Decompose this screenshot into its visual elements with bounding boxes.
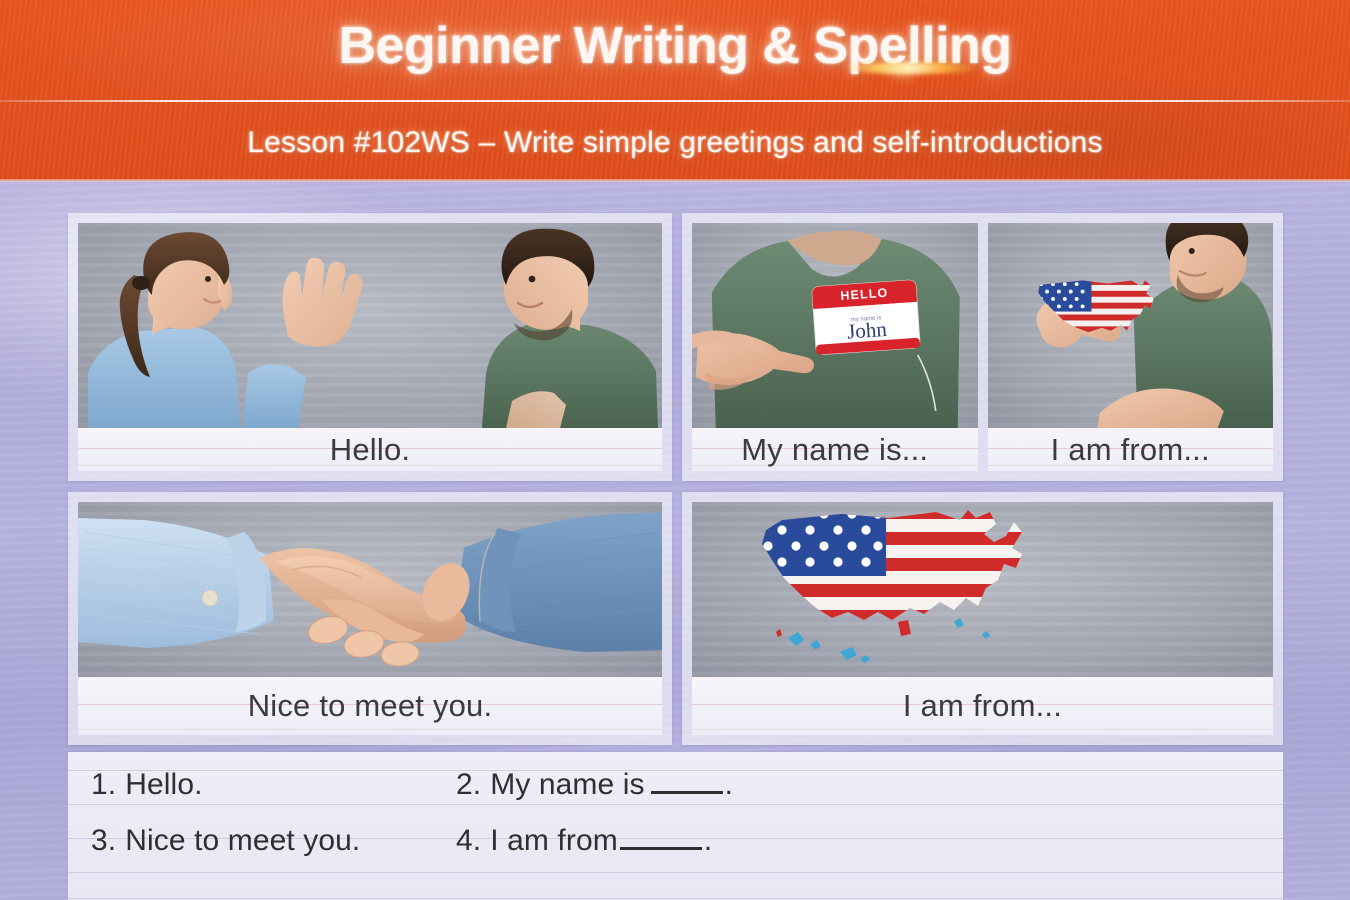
item-number: 3. (91, 824, 116, 858)
photo-woman-waving (78, 223, 662, 428)
caption-text: My name is... (741, 432, 928, 468)
item-number: 1. (91, 768, 116, 802)
rule-line (68, 898, 1283, 899)
flashcard-hello[interactable]: Hello. (68, 213, 672, 481)
worksheet-item-4: 4. I am from . (456, 824, 712, 858)
rule-line (68, 872, 1283, 873)
worksheet-item-1: 1. Hello. (91, 768, 203, 802)
scene-handshake-illustration (78, 502, 662, 677)
header-bottom-edge (0, 179, 1350, 182)
usa-flag-map-icon (692, 502, 1273, 677)
fill-in-blank[interactable] (620, 830, 702, 850)
caption-text: I am from... (1051, 432, 1210, 468)
caption-text: Hello. (330, 432, 410, 468)
caption-strip-hello: Hello. (78, 428, 662, 471)
photo-handshake (78, 502, 662, 677)
slide-root: Beginner Writing & Spelling Lesson #102W… (0, 0, 1350, 900)
caption-strip-i-am-from-large: I am from... (692, 677, 1273, 735)
scene-name-tag-illustration: HELLO my name is my name is John (692, 223, 978, 428)
worksheet-item-3: 3. Nice to meet you. (91, 824, 360, 858)
caption-strip-nice-to-meet-you: Nice to meet you. (78, 677, 662, 735)
flashcard-inner: Hello. (78, 223, 662, 471)
rule-line (68, 804, 1283, 805)
scene-man-holding-map-illustration (988, 223, 1274, 428)
caption-text: I am from... (903, 688, 1062, 724)
flashcard-inner: Nice to meet you. (78, 502, 662, 735)
fill-in-blank[interactable] (651, 774, 723, 794)
scene-waving-illustration (78, 223, 662, 428)
flashcard-split: HELLO my name is my name is John (692, 223, 1273, 471)
map-islands (788, 618, 990, 663)
flashcard-i-am-from-small[interactable]: I am from... (988, 223, 1274, 471)
flashcard-inner: I am from... (692, 502, 1273, 735)
item-tail: . (704, 824, 712, 858)
item-number: 4. (456, 824, 481, 858)
photo-usa-flag-map (692, 502, 1273, 677)
writing-practice-sheet[interactable]: 1. Hello. 2. My name is . 3. Nice to mee… (68, 752, 1283, 900)
lens-flare-streak-icon (845, 62, 980, 74)
item-text: Nice to meet you. (125, 824, 360, 858)
flashcard-introduction-pair[interactable]: HELLO my name is my name is John (682, 213, 1283, 481)
item-text: I am from (490, 824, 618, 858)
header-divider (0, 100, 1350, 102)
flashcard-nice-to-meet-you[interactable]: Nice to meet you. (68, 492, 672, 745)
flashcard-i-am-from-large[interactable]: I am from... (682, 492, 1283, 745)
item-text: Hello. (125, 768, 202, 802)
page-title: Beginner Writing & Spelling (0, 16, 1350, 76)
caption-text: Nice to meet you. (248, 688, 493, 724)
caption-strip-i-am-from-small: I am from... (988, 428, 1274, 471)
lesson-subtitle: Lesson #102WS – Write simple greetings a… (0, 126, 1350, 160)
item-tail: . (725, 768, 733, 802)
svg-text:John: John (846, 317, 888, 344)
item-text: My name is (490, 768, 644, 802)
caption-strip-my-name-is: My name is... (692, 428, 978, 471)
worksheet-item-2: 2. My name is . (456, 768, 733, 802)
item-number: 2. (456, 768, 481, 802)
photo-man-with-flag-map (988, 223, 1274, 428)
photo-name-tag: HELLO my name is my name is John (692, 223, 978, 428)
flashcard-my-name-is[interactable]: HELLO my name is my name is John (692, 223, 978, 471)
